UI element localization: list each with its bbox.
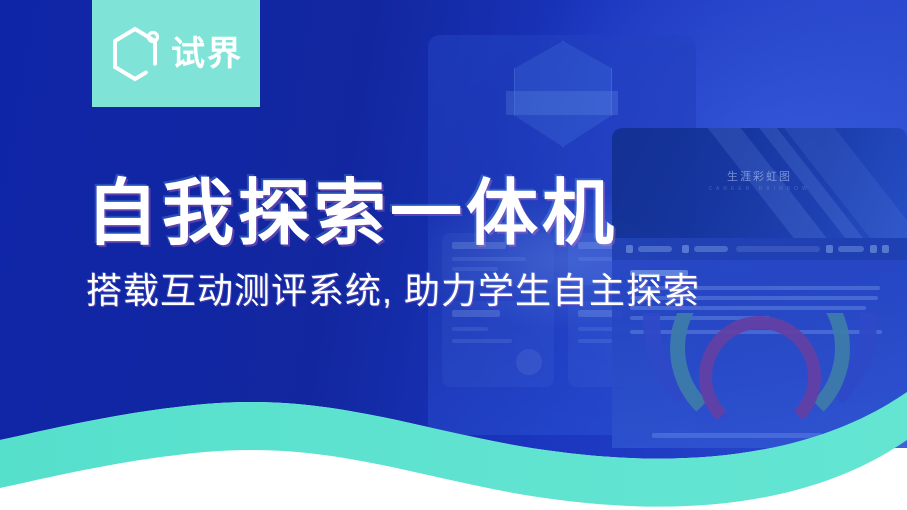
hexagon-outline-icon	[109, 26, 161, 82]
brand-logo[interactable]: 试界	[92, 0, 260, 107]
mockup-toolbar	[612, 238, 907, 260]
poster-canvas: 生涯彩虹图 CAREER RAINBOW	[0, 0, 907, 510]
career-rainbow-chart	[640, 313, 880, 438]
brand-logo-text: 试界	[171, 37, 243, 71]
mockup-tile	[442, 301, 554, 387]
page-title: 自我探索一体机	[86, 178, 618, 250]
mockup-right-hero: 生涯彩虹图 CAREER RAINBOW	[612, 128, 907, 238]
mockup-hero-subtitle: CAREER RAINBOW	[612, 186, 907, 192]
page-subtitle: 搭载互动测评系统, 助力学生自主探索	[86, 271, 700, 311]
mockup-hero-title: 生涯彩虹图	[612, 168, 907, 184]
badge-emblem-icon	[506, 41, 618, 159]
rainbow-arc-inner	[699, 316, 821, 438]
